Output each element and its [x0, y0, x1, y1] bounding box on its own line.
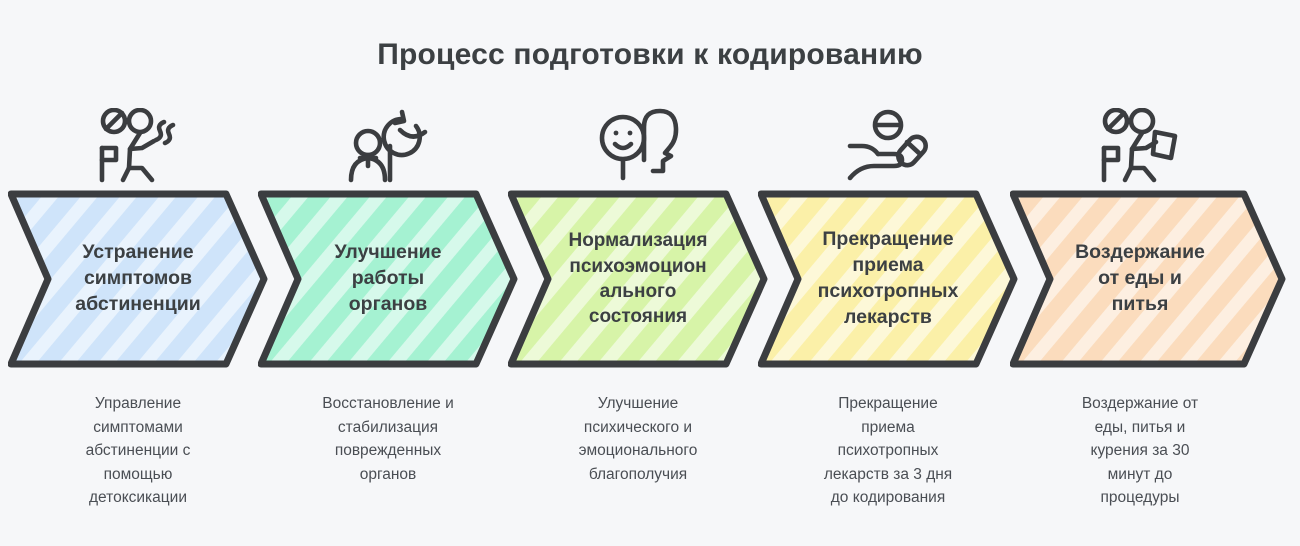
page-title: Процесс подготовки к кодированию	[0, 38, 1300, 72]
step-chevron-shape	[258, 190, 530, 368]
process-step-1[interactable]: Устранение симптомов абстиненции Управле…	[8, 104, 268, 544]
process-step-3[interactable]: Нормализация психоэмоцион ального состоя…	[508, 104, 768, 544]
process-flow: Устранение симптомов абстиненции Управле…	[0, 104, 1300, 544]
person-recovery-refresh-icon	[258, 104, 518, 188]
no-eating-drinking-person-icon	[1010, 104, 1270, 188]
step-caption: Управление симптомами абстиненции с помо…	[8, 392, 268, 510]
process-step-5[interactable]: Воздержание от еды и питья Воздержание о…	[1010, 104, 1270, 544]
head-smiley-mind-icon	[508, 104, 768, 188]
step-chevron-shape	[1010, 190, 1282, 368]
step-chevron-shape	[758, 190, 1030, 368]
step-caption: Воздержание от еды, питья и курения за 3…	[1010, 392, 1270, 510]
no-smoking-person-icon	[8, 104, 268, 188]
step-chevron-shape	[8, 190, 280, 368]
step-caption: Прекращение приема психотропных лекарств…	[758, 392, 1018, 510]
step-caption: Улучшение психического и эмоционального …	[508, 392, 768, 486]
process-step-4[interactable]: Прекращение приема психотропных лекарств…	[758, 104, 1018, 544]
hand-holding-pills-icon	[758, 104, 1018, 188]
step-chevron-shape	[508, 190, 780, 368]
process-step-2[interactable]: Улучшение работы органов Восстановление …	[258, 104, 518, 544]
step-caption: Восстановление и стабилизация поврежденн…	[258, 392, 518, 486]
